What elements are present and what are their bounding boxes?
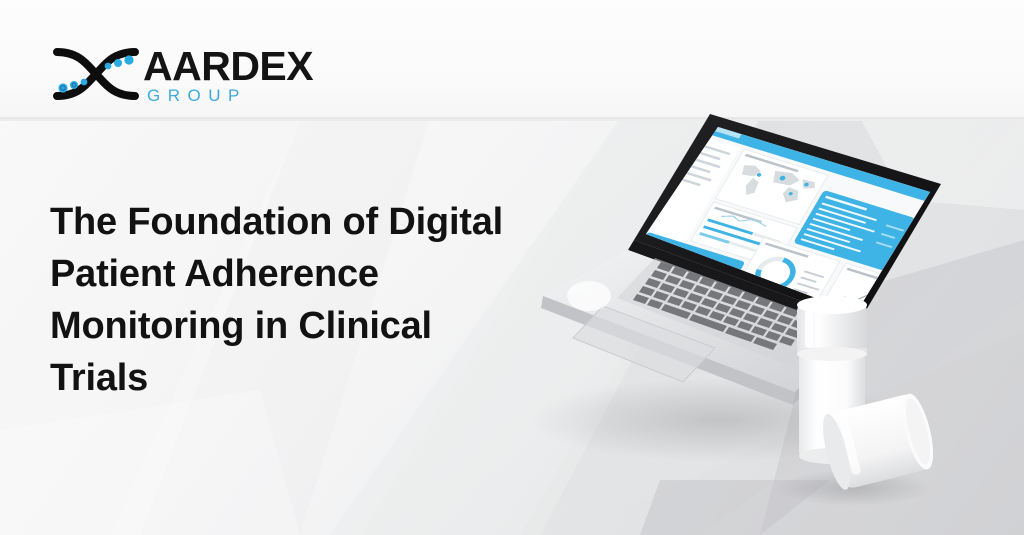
brand-subtitle: GROUP (147, 86, 247, 106)
headline-line-3: Monitoring in Clinical (50, 300, 520, 352)
page-title: The Foundation of Digital Patient Adhere… (50, 196, 520, 404)
brand-name: AARDEX (143, 44, 313, 88)
headline-line-2: Patient Adherence (50, 248, 520, 300)
pill-bottles (775, 290, 945, 505)
brand-logo[interactable]: AARDEX GROUP (50, 42, 325, 108)
dna-helix-x-icon (50, 44, 142, 104)
headline-line-1: The Foundation of Digital (50, 196, 520, 248)
banner-canvas: AARDEX GROUP The Foundation of Digital P… (0, 0, 1024, 535)
headline-line-4: Trials (50, 352, 520, 404)
